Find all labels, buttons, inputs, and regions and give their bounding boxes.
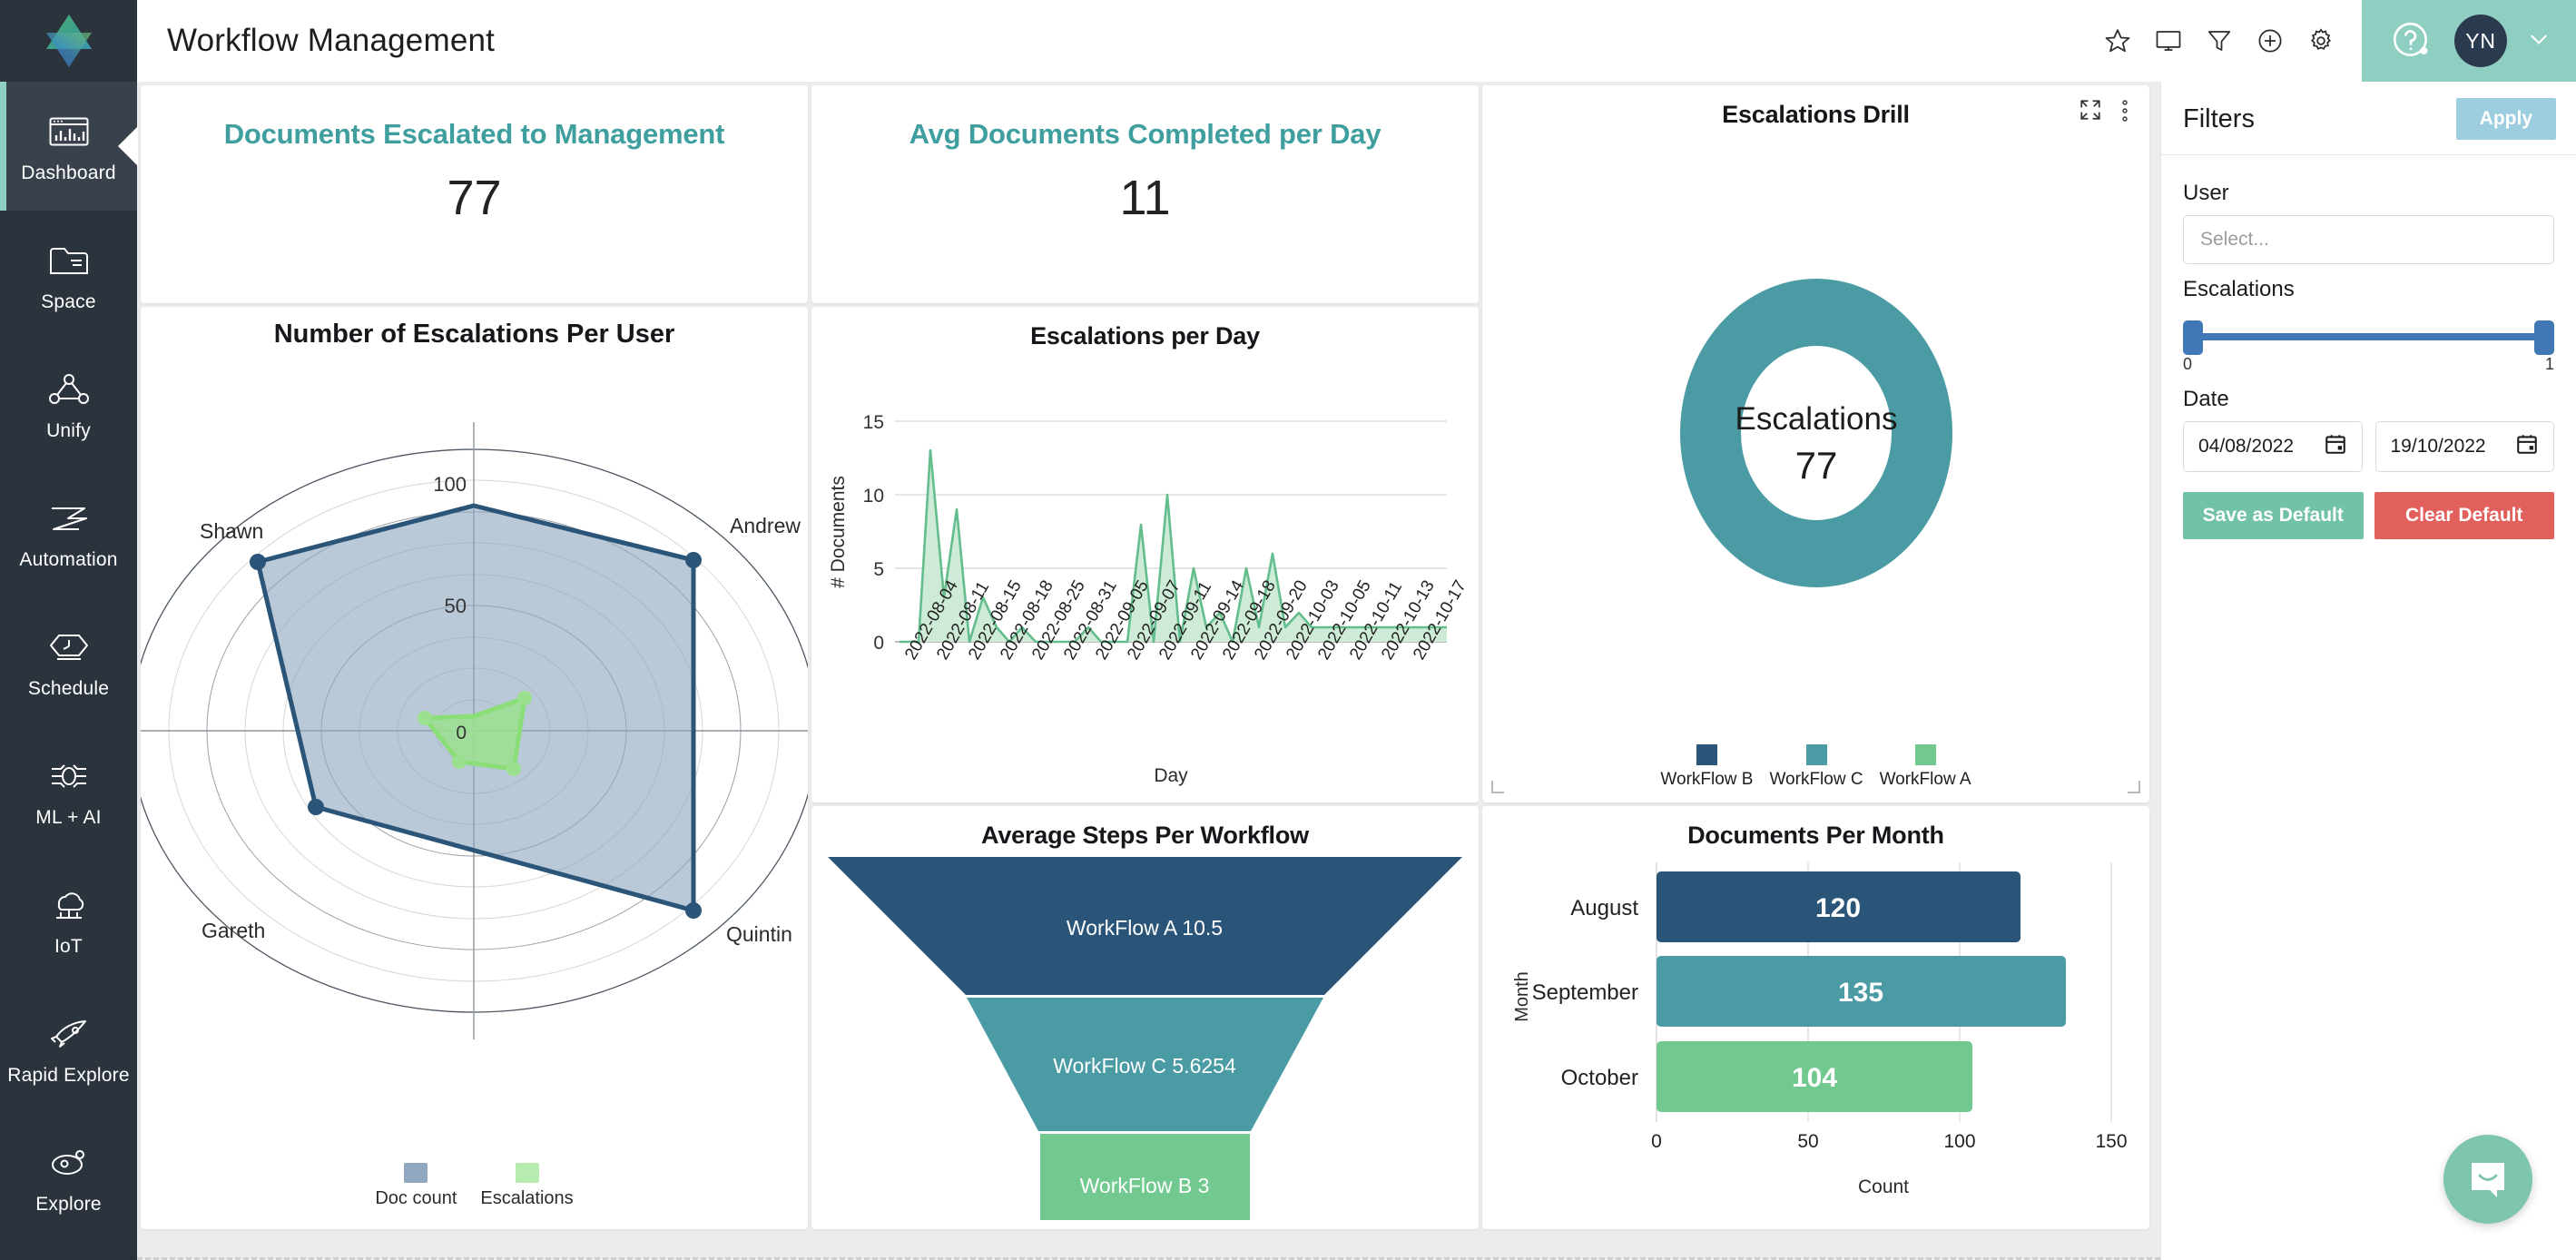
legend-item[interactable]: Escalations — [480, 1163, 573, 1209]
x-axis-label: Day — [1154, 765, 1188, 786]
chart-card-escalations-per-day[interactable]: Escalations per Day 15 10 — [811, 307, 1479, 802]
x-axis-label: Count — [1858, 1176, 1909, 1197]
legend-label: WorkFlow B — [1660, 770, 1753, 790]
avatar[interactable]: YN — [2454, 15, 2507, 67]
sidebar-item-label: Space — [41, 290, 96, 314]
sidebar-item-dashboard[interactable]: Dashboard — [0, 82, 137, 211]
filters-panel: Filters Apply User Select... Escalations… — [2160, 82, 2576, 1260]
sidebar-item-label: Explore — [35, 1193, 102, 1216]
date-from-input[interactable]: 04/08/2022 — [2183, 421, 2363, 472]
chart-card-average-steps-per-workflow[interactable]: Average Steps Per Workflow WorkFlow A 10… — [811, 806, 1479, 1229]
sidebar-item-explore[interactable]: Explore — [0, 1113, 137, 1242]
user-select[interactable]: Select... — [2183, 215, 2554, 264]
y-tick: 5 — [873, 559, 884, 580]
kpi-title: Documents Escalated to Management — [224, 118, 725, 151]
bar-value-august: 120 — [1815, 893, 1861, 923]
kpi-card-avg-documents-per-day: Avg Documents Completed per Day 11 — [811, 85, 1479, 303]
legend-label: WorkFlow A — [1880, 770, 1971, 790]
y-axis-label: Month — [1512, 971, 1532, 1022]
bar-plot: 120 135 104 August September October — [1482, 850, 2149, 1229]
space-icon — [45, 237, 93, 284]
kpi-card-documents-escalated: Documents Escalated to Management 77 — [141, 85, 808, 303]
automation-icon — [45, 495, 93, 542]
rocket-icon — [45, 1010, 93, 1058]
radar-axis-label-gareth: Gareth — [202, 919, 265, 942]
card-tools — [2079, 98, 2135, 130]
legend-swatch — [1806, 744, 1827, 765]
sidebar-item-label: Rapid Explore — [7, 1064, 130, 1088]
resize-corner-bl — [1491, 781, 1504, 793]
iot-icon — [45, 881, 93, 929]
chart-title: Escalations per Day — [811, 307, 1479, 350]
save-as-default-button[interactable]: Save as Default — [2183, 492, 2364, 539]
radar-tick-0: 0 — [456, 723, 467, 743]
date-to-input[interactable]: 19/10/2022 — [2375, 421, 2555, 472]
legend-item[interactable]: Doc count — [375, 1163, 457, 1209]
area-plot: 15 10 5 0 # Documents — [811, 350, 1479, 802]
date-from-value: 04/08/2022 — [2198, 436, 2294, 458]
escalations-filter-label: Escalations — [2183, 277, 2554, 302]
sidebar: Dashboard Space Unify — [0, 0, 137, 1260]
funnel-stage-b-label: WorkFlow B 3 — [1080, 1174, 1210, 1197]
topbar-right: YN — [2102, 0, 2576, 82]
chart-title: Average Steps Per Workflow — [811, 806, 1479, 850]
ml-ai-icon — [45, 753, 93, 800]
funnel-plot: WorkFlow A 10.5 WorkFlow C 5.6254 WorkFl… — [811, 850, 1479, 1229]
sidebar-item-label: Schedule — [28, 677, 109, 701]
chat-bubble-icon[interactable] — [2443, 1135, 2532, 1224]
sidebar-item-automation[interactable]: Automation — [0, 468, 137, 597]
page-title: Workflow Management — [167, 23, 495, 59]
filters-header: Filters Apply — [2161, 82, 2576, 155]
legend-label: Doc count — [375, 1188, 457, 1209]
sidebar-nav: Dashboard Space Unify — [0, 82, 137, 1242]
main-area: Workflow Management — [137, 0, 2576, 1260]
radar-tick-50: 50 — [445, 595, 467, 617]
date-to-value: 19/10/2022 — [2391, 436, 2486, 458]
filters-title: Filters — [2183, 104, 2255, 134]
sidebar-item-unify[interactable]: Unify — [0, 340, 137, 468]
app-root: Dashboard Space Unify — [0, 0, 2576, 1260]
star-icon[interactable] — [2102, 25, 2133, 56]
chart-title: Number of Escalations Per User — [141, 307, 808, 349]
legend-swatch — [1696, 744, 1717, 765]
body-row: Documents Escalated to Management 77 Avg… — [137, 82, 2576, 1260]
expand-icon[interactable] — [2079, 98, 2102, 126]
sidebar-item-schedule[interactable]: Schedule — [0, 597, 137, 726]
apply-button[interactable]: Apply — [2456, 98, 2556, 140]
chevron-down-icon[interactable] — [2527, 27, 2551, 55]
y-category: September — [1532, 980, 1638, 1005]
escalations-range-slider[interactable] — [2183, 313, 2554, 360]
y-tick: 10 — [863, 486, 884, 507]
unify-icon — [45, 366, 93, 413]
bar-value-october: 104 — [1792, 1063, 1837, 1093]
funnel-stage-a-label: WorkFlow A 10.5 — [1067, 916, 1223, 940]
radar-axis-label-shawn: Shawn — [200, 519, 263, 543]
filters-body: User Select... Escalations 0 1 Date — [2161, 155, 2576, 539]
help-icon[interactable] — [2389, 18, 2434, 64]
sidebar-item-label: ML + AI — [35, 806, 101, 830]
monitor-icon[interactable] — [2153, 25, 2184, 56]
legend-item[interactable]: WorkFlow C — [1769, 744, 1863, 790]
donut-center-value: 77 — [1794, 444, 1837, 487]
topbar-icons — [2102, 25, 2362, 56]
kpi-value: 11 — [1119, 170, 1170, 226]
kpi-value: 77 — [447, 170, 501, 226]
sidebar-item-space[interactable]: Space — [0, 211, 137, 340]
y-category: October — [1561, 1066, 1638, 1090]
radar-legend: Doc count Escalations — [141, 1163, 808, 1229]
calendar-icon[interactable] — [2324, 432, 2347, 461]
dashboard-icon — [45, 108, 93, 155]
funnel-stage-c-label: WorkFlow C 5.6254 — [1053, 1054, 1236, 1078]
y-tick: 15 — [863, 412, 884, 433]
sidebar-item-label: Automation — [19, 548, 117, 572]
chart-title: Documents Per Month — [1482, 806, 2149, 850]
legend-label: WorkFlow C — [1769, 770, 1863, 790]
x-tick: 50 — [1797, 1131, 1818, 1152]
resize-corner-br[interactable] — [2128, 781, 2140, 793]
topbar: Workflow Management — [137, 0, 2576, 82]
y-category: August — [1570, 896, 1638, 920]
sidebar-item-label: Dashboard — [21, 162, 116, 185]
radar-plot: 0 50 100 Andrew Quintin Gareth Shawn — [141, 349, 808, 1163]
legend-swatch — [1915, 744, 1936, 765]
user-zone: YN — [2362, 0, 2576, 82]
sidebar-item-iot[interactable]: IoT — [0, 855, 137, 984]
radar-axis-label-andrew: Andrew — [730, 514, 801, 537]
dashboard-grid: Documents Escalated to Management 77 Avg… — [137, 82, 2160, 1260]
chart-card-escalations-per-user[interactable]: Number of Escalations Per User — [141, 307, 808, 1229]
donut-center-label: Escalations — [1735, 401, 1897, 437]
app-logo[interactable] — [0, 0, 137, 82]
x-tick: 100 — [1943, 1131, 1975, 1152]
chart-card-documents-per-month[interactable]: Documents Per Month 120 — [1482, 806, 2149, 1229]
explore-icon — [45, 1139, 93, 1186]
sidebar-item-rapid-explore[interactable]: Rapid Explore — [0, 984, 137, 1113]
y-tick: 0 — [873, 633, 884, 654]
date-range-row: 04/08/2022 19/10/2022 — [2183, 421, 2554, 472]
slider-track — [2195, 333, 2542, 340]
legend-item[interactable]: WorkFlow A — [1880, 744, 1971, 790]
legend-item[interactable]: WorkFlow B — [1660, 744, 1753, 790]
y-axis-label: # Documents — [828, 476, 849, 588]
schedule-icon — [45, 624, 93, 671]
radar-axis-label-quintin: Quintin — [726, 922, 792, 946]
slider-handle-min[interactable] — [2183, 320, 2203, 355]
clear-default-button[interactable]: Clear Default — [2374, 492, 2555, 539]
sidebar-item-label: IoT — [54, 935, 83, 959]
plus-circle-icon[interactable] — [2255, 25, 2286, 56]
sidebar-item-ml-ai[interactable]: ML + AI — [0, 726, 137, 855]
user-filter-label: User — [2183, 181, 2554, 206]
legend-swatch — [516, 1163, 539, 1183]
filters-actions: Save as Default Clear Default — [2183, 492, 2554, 539]
gear-icon[interactable] — [2306, 25, 2336, 56]
date-filter-label: Date — [2183, 387, 2554, 412]
calendar-icon[interactable] — [2515, 432, 2539, 461]
radar-tick-100: 100 — [433, 473, 467, 496]
chart-card-escalations-drill[interactable]: Escalations Drill Escalations 77 — [1482, 85, 2149, 802]
x-tick: 150 — [2095, 1131, 2127, 1152]
sidebar-item-label: Unify — [46, 419, 91, 443]
x-tick: 0 — [1651, 1131, 1662, 1152]
kpi-title: Avg Documents Completed per Day — [909, 118, 1381, 151]
dashboard-grid-wrapper: Documents Escalated to Management 77 Avg… — [137, 82, 2160, 1260]
more-vertical-icon[interactable] — [2115, 98, 2135, 130]
legend-label: Escalations — [480, 1188, 573, 1209]
slider-handle-max[interactable] — [2534, 320, 2554, 355]
filter-icon[interactable] — [2204, 25, 2235, 56]
donut-plot: Escalations 77 — [1482, 129, 2149, 744]
donut-legend: WorkFlow B WorkFlow C WorkFlow A — [1482, 744, 2149, 802]
bar-value-september: 135 — [1838, 978, 1883, 1008]
legend-swatch — [404, 1163, 428, 1183]
chart-title: Escalations Drill — [1482, 85, 2149, 129]
